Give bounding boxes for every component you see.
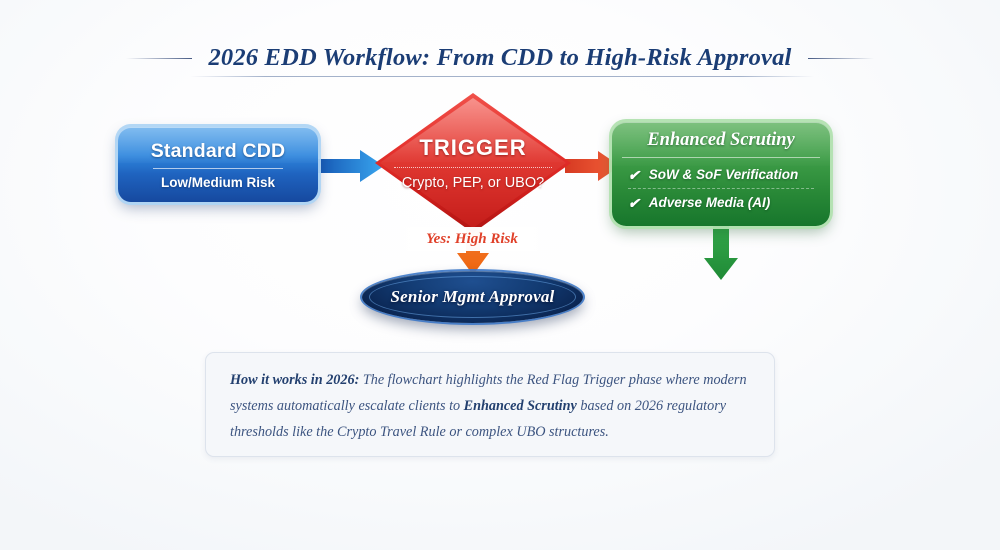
node-senior-mgmt-approval-label: Senior Mgmt Approval xyxy=(391,287,555,307)
node-standard-cdd-subtitle: Low/Medium Risk xyxy=(161,175,275,190)
node-standard-cdd-title: Standard CDD xyxy=(151,140,286,163)
title-rule-right xyxy=(808,58,874,59)
check-icon: ✔ xyxy=(628,168,640,182)
title-rule-left xyxy=(126,58,192,59)
caption-lead: How it works in 2026: xyxy=(230,372,359,388)
node-enhanced-scrutiny-title-rule xyxy=(622,157,820,158)
flowchart-canvas: 2026 EDD Workflow: From CDD to High-Risk… xyxy=(0,0,1000,550)
caption-emphasis: Enhanced Scrutiny xyxy=(464,398,577,414)
scrutiny-item-sow-sof: ✔ SoW & SoF Verification xyxy=(612,165,830,184)
edge-label-text: Yes: High Risk xyxy=(426,231,518,248)
title-underline xyxy=(190,76,814,77)
scrutiny-item-adverse-media: ✔ Adverse Media (AI) xyxy=(612,193,830,212)
edge-scrutiny-down xyxy=(702,226,740,282)
scrutiny-item-divider xyxy=(628,188,814,189)
node-standard-cdd-divider xyxy=(153,168,283,169)
scrutiny-item-label: Adverse Media (AI) xyxy=(649,195,771,210)
caption-box: How it works in 2026: The flowchart high… xyxy=(205,352,775,457)
node-standard-cdd[interactable]: Standard CDD Low/Medium Risk xyxy=(118,127,318,202)
node-enhanced-scrutiny[interactable]: Enhanced Scrutiny ✔ SoW & SoF Verificati… xyxy=(612,122,830,226)
node-trigger-title: TRIGGER xyxy=(419,135,526,161)
caption-text: How it works in 2026: The flowchart high… xyxy=(230,367,750,445)
node-enhanced-scrutiny-title: Enhanced Scrutiny xyxy=(612,122,830,157)
page-title: 2026 EDD Workflow: From CDD to High-Risk… xyxy=(208,44,791,72)
edge-label-yes-high-risk: Yes: High Risk xyxy=(393,227,551,251)
node-senior-mgmt-approval[interactable]: Senior Mgmt Approval xyxy=(362,271,583,323)
node-trigger-divider xyxy=(394,167,552,168)
chart-title-row: 2026 EDD Workflow: From CDD to High-Risk… xyxy=(0,44,1000,72)
check-icon: ✔ xyxy=(628,196,640,210)
scrutiny-item-label: SoW & SoF Verification xyxy=(649,167,799,182)
node-trigger-subtitle: Crypto, PEP, or UBO? xyxy=(402,175,544,191)
node-trigger-diamond[interactable]: TRIGGER Crypto, PEP, or UBO? xyxy=(375,93,571,233)
diamond-text-group: TRIGGER Crypto, PEP, or UBO? xyxy=(375,93,571,233)
